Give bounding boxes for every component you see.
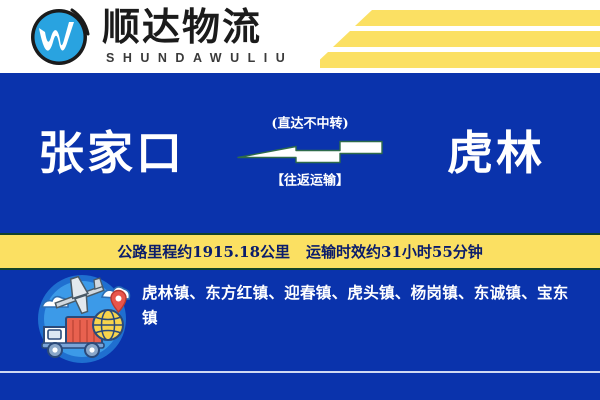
circle-w-swoosh-logo-icon <box>28 4 94 68</box>
duration-text: 运输时效约31小时55分钟 <box>306 241 483 262</box>
route-middle: (直达不中转) 【往返运输】 <box>236 117 384 190</box>
banner-header: 顺达物流 SHUNDAWULIU <box>0 0 600 73</box>
bidirectional-arrow-icon <box>236 138 384 168</box>
covered-towns-list: 虎林镇、东方红镇、迎春镇、虎头镇、杨岗镇、东诚镇、宝东镇 <box>142 280 582 330</box>
route-section: 张家口 (直达不中转) 【往返运输】 虎林 <box>0 73 600 233</box>
origin-city: 张家口 <box>38 127 185 179</box>
distance-text: 公路里程约1915.18公里 <box>117 241 290 262</box>
logistics-truck-plane-globe-icon <box>28 273 136 365</box>
brand-name-en: SHUNDAWULIU <box>102 51 293 65</box>
brand-name-cn: 顺达物流 <box>102 6 293 48</box>
direct-route-note: (直达不中转) <box>236 117 384 133</box>
logistics-route-banner: 顺达物流 SHUNDAWULIU 张家口 (直达不中转) 【往返运输】 虎林 <box>0 0 600 400</box>
coverage-section: 虎林镇、东方红镇、迎春镇、虎头镇、杨岗镇、东诚镇、宝东镇 <box>0 270 600 372</box>
brand-logo: 顺达物流 SHUNDAWULIU <box>28 4 293 68</box>
destination-city: 虎林 <box>447 127 545 179</box>
three-yellow-slanted-stripes-icon <box>320 0 600 73</box>
distance-duration-bar: 公路里程约1915.18公里 运输时效约31小时55分钟 <box>0 233 600 270</box>
round-trip-note: 【往返运输】 <box>236 174 384 190</box>
banner-footer <box>0 373 600 400</box>
